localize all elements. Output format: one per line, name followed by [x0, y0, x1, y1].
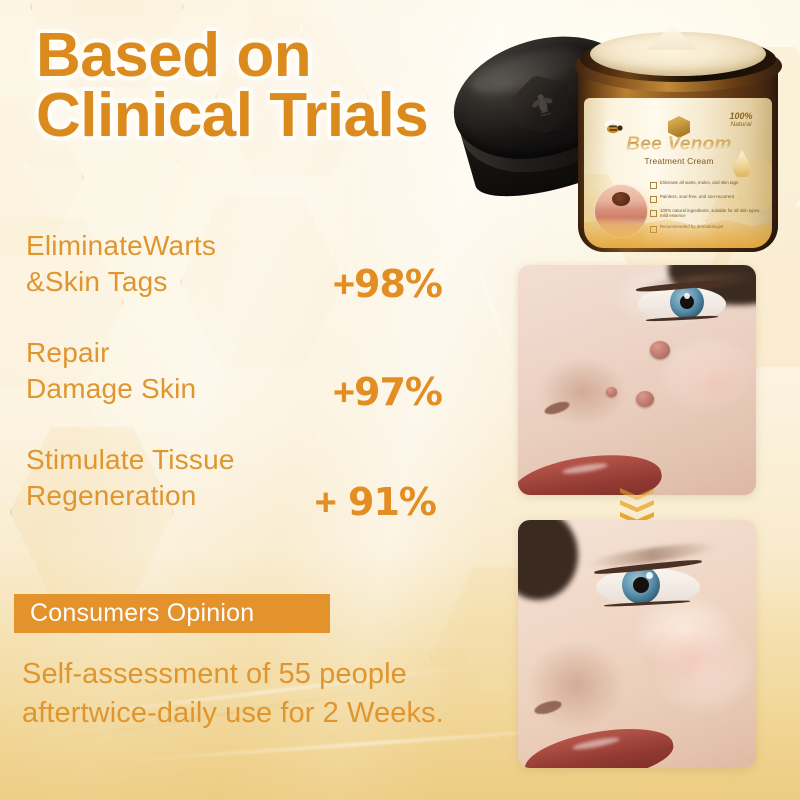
bullet-text: 100% natural ingredients, suitable for a… — [660, 208, 764, 219]
benefit-label: Repair Damage Skin — [26, 335, 316, 406]
page-title: Based on Clinical Trials — [36, 26, 476, 145]
product-label: Bee Venom Treatment Cream 100% Natural E… — [584, 98, 772, 248]
badge-text: Natural — [720, 121, 762, 128]
list-item: Painless, scar-free, and non-recurrent — [650, 194, 764, 203]
badge-number: 100% — [720, 112, 762, 121]
before-photo — [518, 265, 756, 495]
cream-jar: Bee Venom Treatment Cream 100% Natural E… — [568, 22, 788, 252]
checkbox-icon — [650, 196, 657, 203]
benefit-value: 97% — [354, 370, 442, 414]
consumers-opinion-banner: Consumers Opinion — [14, 594, 330, 633]
chevron-down-icon — [620, 500, 654, 513]
promo-poster: Based on Clinical Trials EliminateWarts … — [0, 0, 800, 800]
after-photo — [518, 520, 756, 768]
benefit-row: Stimulate Tissue Regeneration + 91% — [26, 442, 446, 549]
banner-label: Consumers Opinion — [14, 599, 254, 628]
list-item: 100% natural ingredients, suitable for a… — [650, 208, 764, 219]
product-subtitle: Treatment Cream — [614, 156, 744, 166]
benefit-percent: +98% — [333, 262, 442, 307]
plus-sign: + — [333, 372, 354, 414]
checkbox-icon — [650, 210, 657, 217]
skin-tag — [636, 391, 654, 407]
skin-tag — [650, 341, 670, 359]
benefit-label: Stimulate Tissue Regeneration — [26, 442, 316, 513]
product-image: Bee Venom Treatment Cream 100% Natural E… — [438, 14, 798, 264]
plus-sign: + — [315, 482, 336, 524]
skin-tag — [606, 387, 617, 397]
plus-sign: + — [333, 264, 354, 306]
benefit-value: 91% — [348, 480, 436, 524]
study-footnote: Self-assessment of 55 people aftertwice-… — [22, 655, 462, 732]
headline-line-1: Based on — [36, 21, 311, 90]
chevron-down-icon — [620, 488, 654, 501]
benefit-row: Repair Damage Skin +97% — [26, 335, 446, 442]
benefit-percent: +97% — [333, 370, 442, 415]
headline-line-2: Clinical Trials — [36, 86, 476, 146]
checkbox-icon — [650, 182, 657, 189]
benefit-label: EliminateWarts &Skin Tags — [26, 228, 316, 299]
benefit-value: 98% — [354, 262, 442, 306]
list-item: Eliminate all warts, moles, and skin tag… — [650, 180, 764, 189]
benefit-row: EliminateWarts &Skin Tags +98% — [26, 228, 446, 335]
natural-badge: 100% Natural — [720, 112, 762, 142]
bullet-text: Painless, scar-free, and non-recurrent — [660, 194, 734, 199]
benefits-list: EliminateWarts &Skin Tags +98% Repair Da… — [26, 228, 446, 549]
bullet-text: Eliminate all warts, moles, and skin tag… — [660, 180, 738, 185]
benefit-percent: + 91% — [315, 480, 436, 525]
